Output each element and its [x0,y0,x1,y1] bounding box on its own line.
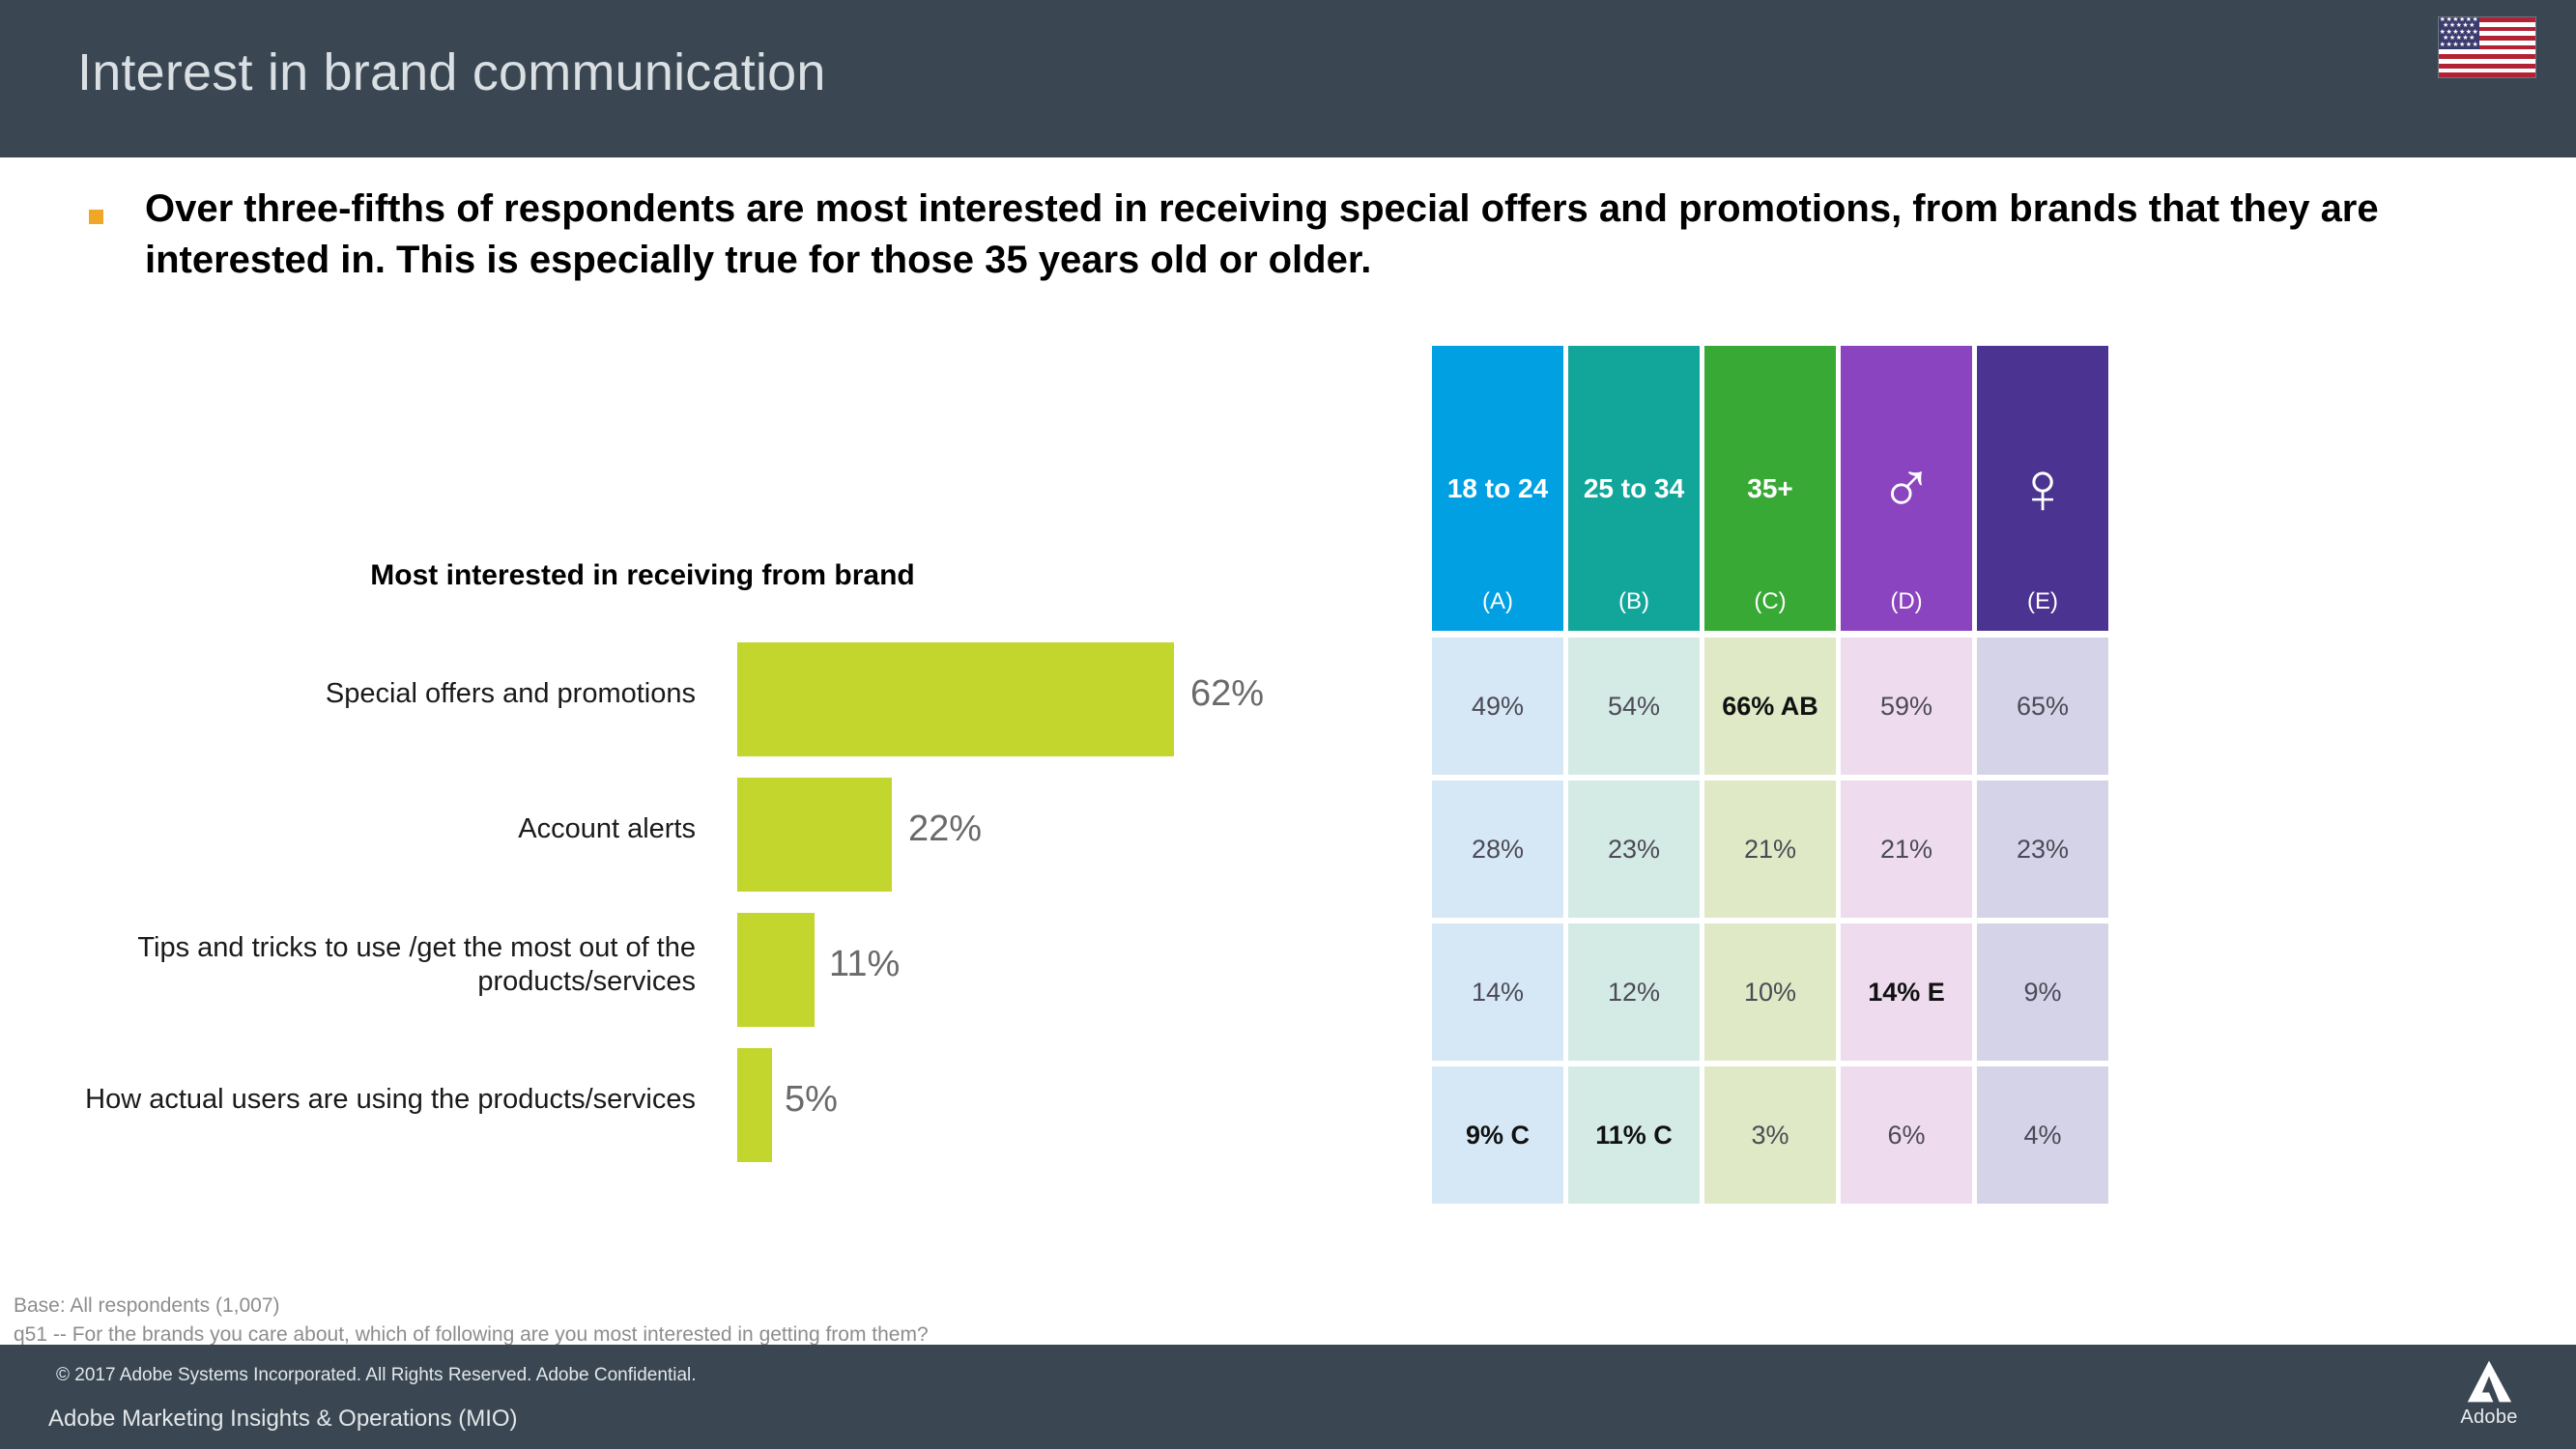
bar-rect [737,778,892,892]
bar-value-label: 62% [1190,673,1264,715]
table-cell: 9% [1977,923,2108,1061]
table-cell: 12% [1568,923,1700,1061]
table-header-c: 35+ (C) [1704,346,1836,631]
table-cell: 11% C [1568,1066,1700,1204]
table-header-d-code: (D) [1841,588,1972,615]
org-text: Adobe Marketing Insights & Operations (M… [48,1406,518,1433]
table-column-c: 35+ (C) 66% AB 21% 10% 3% [1704,346,1836,1194]
bar-value-label: 11% [829,944,900,985]
source-note: Base: All respondents (1,007) q51 -- For… [14,1292,929,1350]
bar-value-label: 5% [785,1079,838,1121]
table-cell: 28% [1432,781,1563,918]
table-cell: 54% [1568,638,1700,775]
segment-table: 18 to 24 (A) 49% 28% 14% 9% C 25 to 34 (… [1432,346,2106,1194]
slide-footer-bar [0,1345,2576,1449]
table-cell: 14% [1432,923,1563,1061]
table-cell: 21% [1704,781,1836,918]
table-header-c-code: (C) [1704,588,1836,615]
table-column-e: ♀ (E) 65% 23% 9% 4% [1977,346,2108,1194]
table-cell: 3% [1704,1066,1836,1204]
adobe-wordmark: Adobe [2443,1406,2535,1429]
chart-title: Most interested in receiving from brand [0,559,1285,592]
table-cell: 23% [1977,781,2108,918]
table-header-b-code: (B) [1568,588,1700,615]
table-column-b: 25 to 34 (B) 54% 23% 12% 11% C [1568,346,1700,1194]
headline-text: Over three-fifths of respondents are mos… [145,184,2464,286]
table-header-d: ♂ (D) [1841,346,1972,631]
bar-category-label: Account alerts [0,812,696,846]
table-cell: 14% E [1841,923,1972,1061]
us-flag-icon: ★★★★★★★★★★★★★★★★★★★★★★★★★★★★ [2439,17,2535,77]
table-cell: 21% [1841,781,1972,918]
table-cell: 23% [1568,781,1700,918]
bar-chart: Most interested in receiving from brand … [0,541,1353,1198]
table-column-a: 18 to 24 (A) 49% 28% 14% 9% C [1432,346,1563,1194]
table-cell: 65% [1977,638,2108,775]
table-header-a-code: (A) [1432,588,1563,615]
adobe-a-icon [2463,1358,2515,1405]
table-column-d: ♂ (D) 59% 21% 14% E 6% [1841,346,1972,1194]
table-cell: 6% [1841,1066,1972,1204]
table-header-e: ♀ (E) [1977,346,2108,631]
bar-category-label: Special offers and promotions [0,677,696,711]
bar-rect [737,642,1174,756]
table-header-e-code: (E) [1977,588,2108,615]
table-cell: 49% [1432,638,1563,775]
table-header-b: 25 to 34 (B) [1568,346,1700,631]
bar-rect [737,1048,772,1162]
bar-row: Special offers and promotions 62% [0,642,1353,756]
adobe-logo: Adobe [2443,1358,2535,1429]
bar-rect [737,913,815,1027]
copyright-text: © 2017 Adobe Systems Incorporated. All R… [56,1365,697,1386]
bar-category-label: Tips and tricks to use /get the most out… [0,931,696,1000]
bullet-square-icon [89,210,103,224]
table-cell: 66% AB [1704,638,1836,775]
table-cell: 4% [1977,1066,2108,1204]
bar-category-label: How actual users are using the products/… [0,1083,696,1117]
table-cell: 10% [1704,923,1836,1061]
source-base: Base: All respondents (1,007) [14,1292,929,1321]
bar-row: Account alerts 22% [0,778,1353,892]
table-cell: 59% [1841,638,1972,775]
bar-value-label: 22% [908,809,982,850]
page-title: Interest in brand communication [77,43,826,102]
bar-row: Tips and tricks to use /get the most out… [0,913,1353,1027]
table-header-a: 18 to 24 (A) [1432,346,1563,631]
table-cell: 9% C [1432,1066,1563,1204]
bar-row: How actual users are using the products/… [0,1048,1353,1162]
